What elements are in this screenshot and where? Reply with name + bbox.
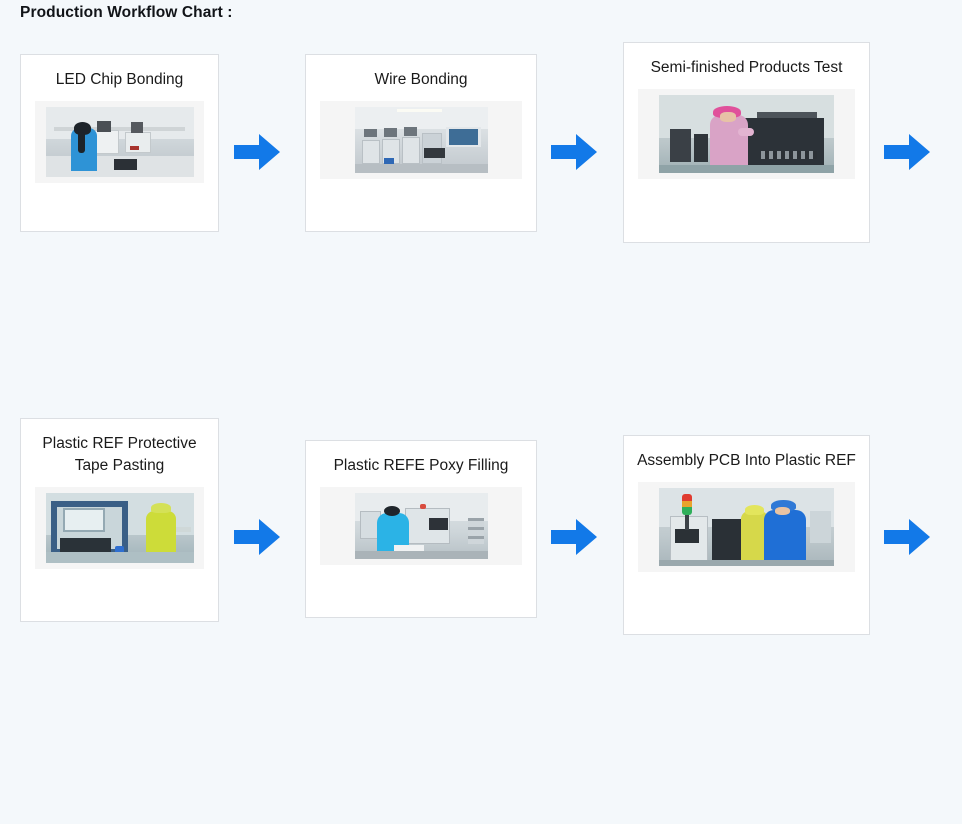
step-title: Semi-finished Products Test: [624, 43, 869, 89]
workflow-step-card-3[interactable]: Semi-finished Products Test: [623, 42, 870, 243]
workflow-row-4: Film Pasting Finished Products Appearanc…: [0, 620, 962, 812]
step-photo-band: [320, 101, 522, 179]
step-photo-band: [638, 89, 855, 179]
workflow-row-3: Epoxy Baking Part Number Printing: [0, 424, 962, 620]
arrow-right-icon-wrap-1: [884, 132, 930, 172]
arrow-right-icon-2: [551, 132, 597, 172]
workflow-grid: LED Chip Bonding Wire Bonding: [0, 32, 962, 812]
photo-semi-finished-test: [659, 95, 834, 173]
workflow-row-1: LED Chip Bonding Wire Bonding: [0, 32, 962, 222]
workflow-row-2: Plastic REF Protective Tape Pasting Plas…: [0, 222, 962, 424]
workflow-step-card-2[interactable]: Wire Bonding: [305, 54, 537, 232]
step-title: LED Chip Bonding: [21, 55, 218, 101]
page-title: Production Workflow Chart :: [20, 4, 233, 22]
photo-led-chip-bonding: [46, 107, 194, 177]
step-photo-band: [35, 101, 204, 183]
arrow-right-icon-1: [234, 132, 280, 172]
workflow-step-card-1[interactable]: LED Chip Bonding: [20, 54, 219, 232]
photo-wire-bonding: [355, 107, 488, 173]
step-title: Wire Bonding: [306, 55, 536, 101]
workflow-page: Production Workflow Chart : LED Chip Bon…: [0, 0, 962, 824]
